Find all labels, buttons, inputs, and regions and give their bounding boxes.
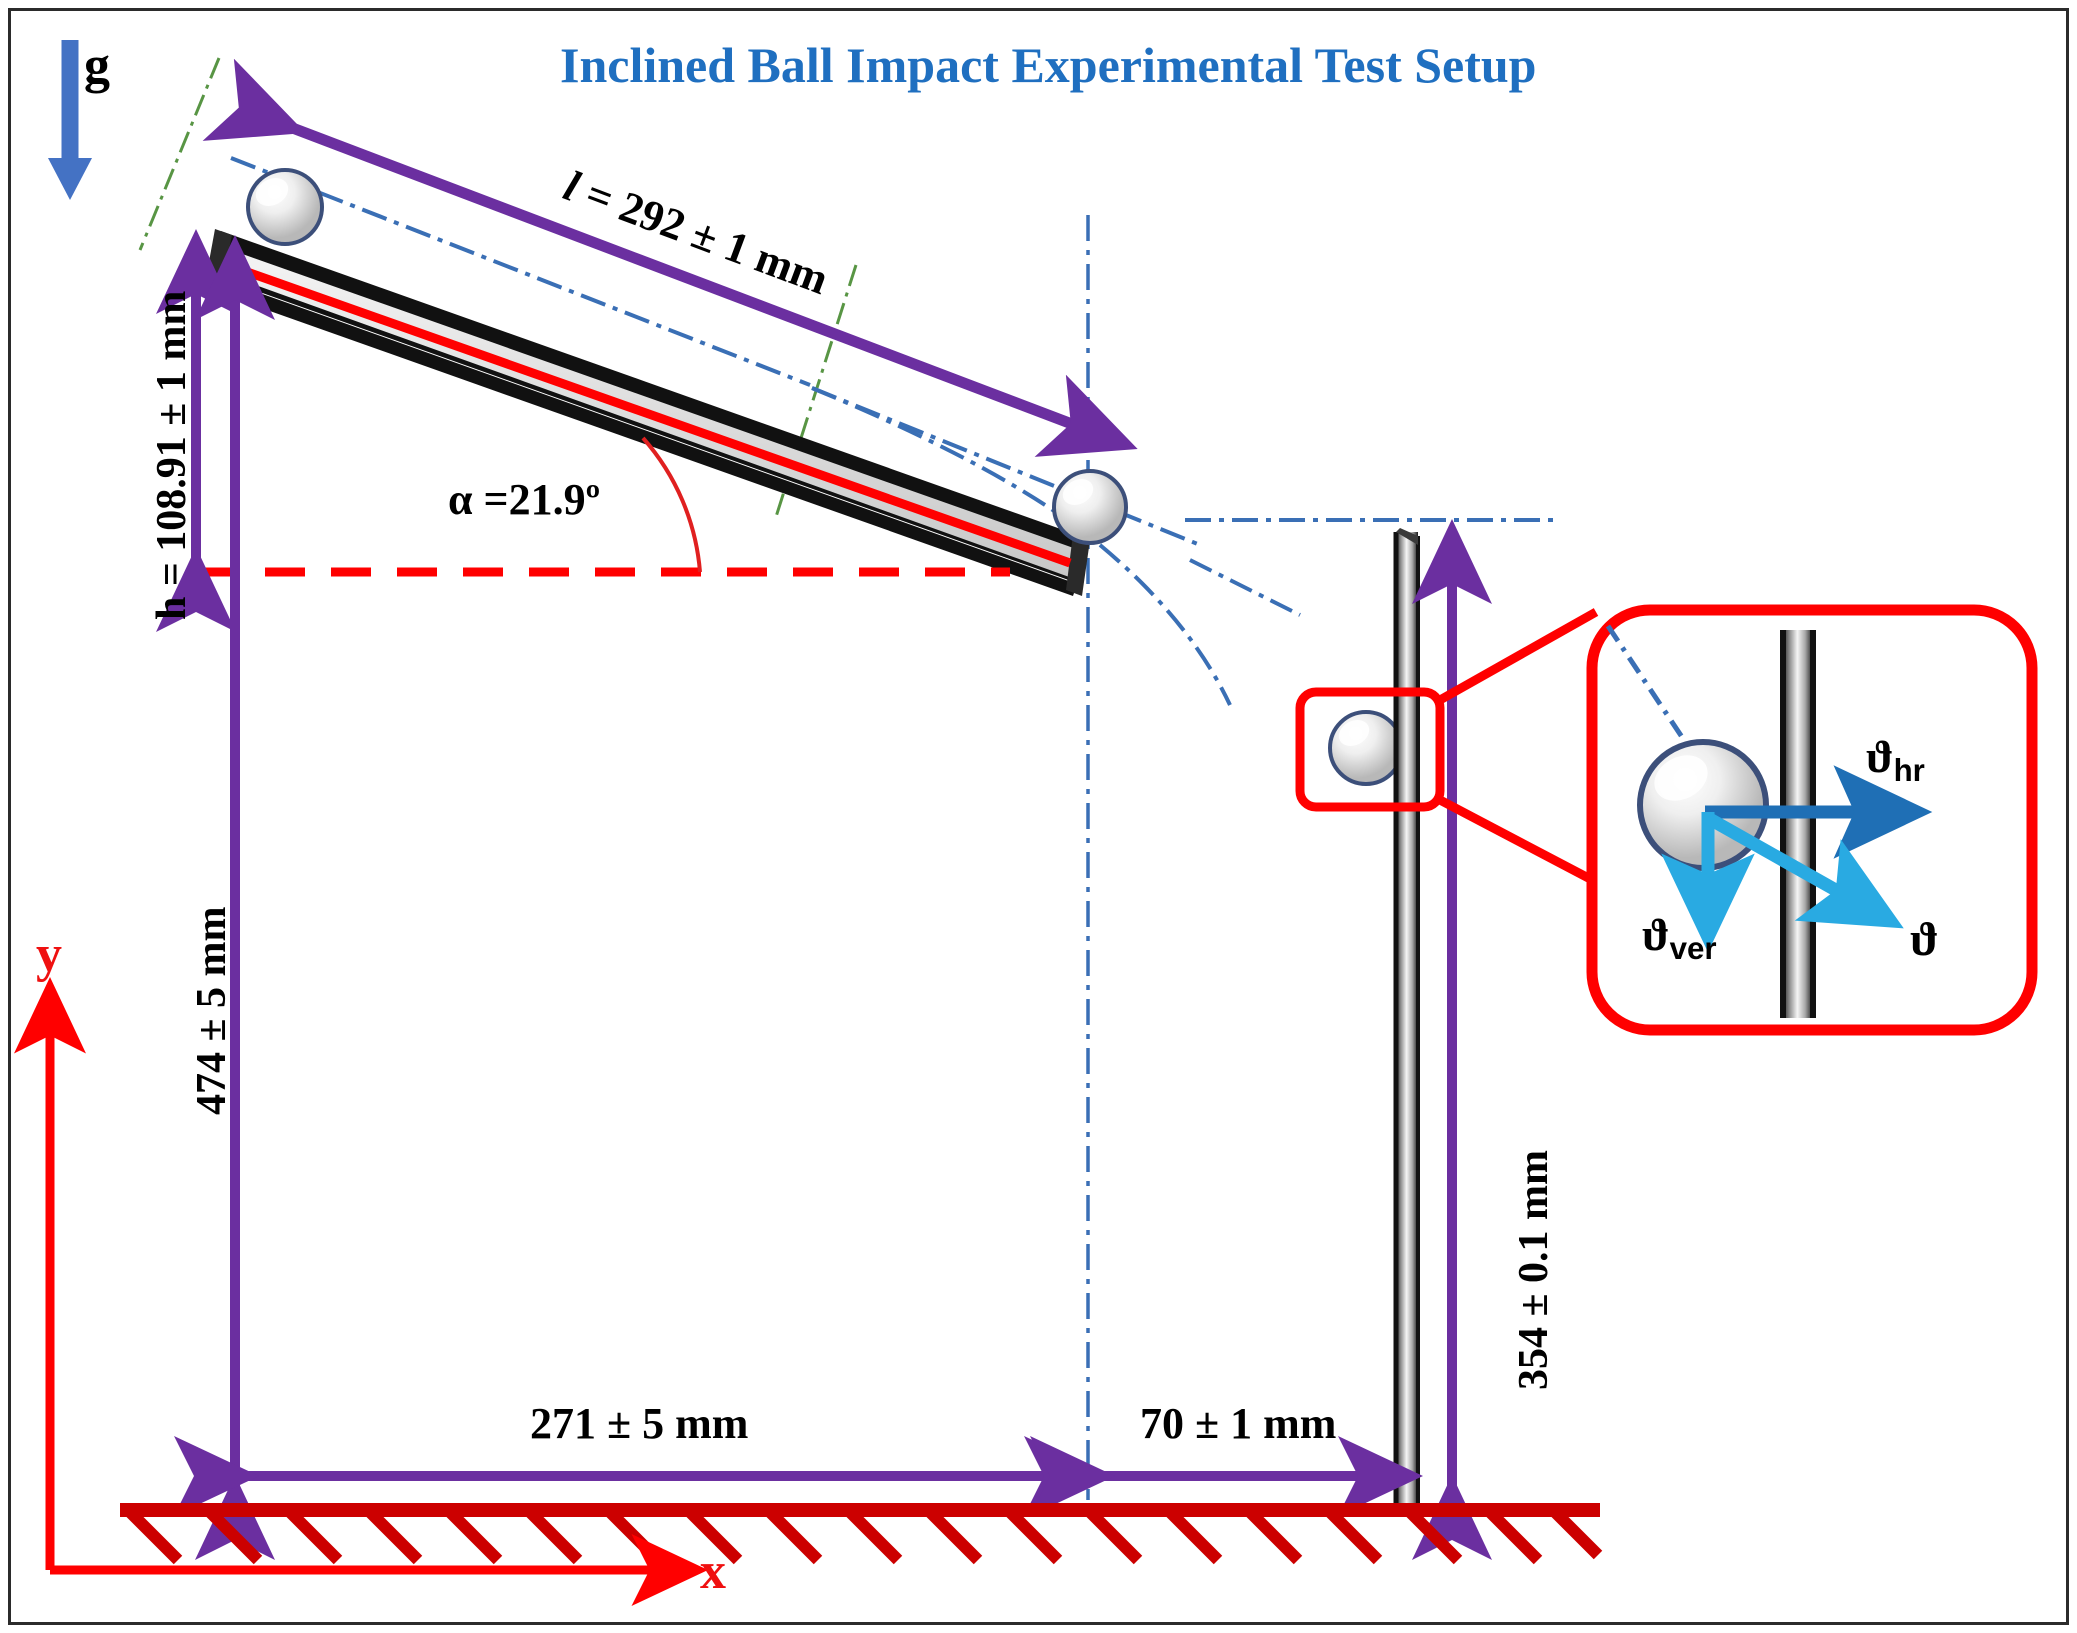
page-title: Inclined Ball Impact Experimental Test S… (560, 36, 1537, 94)
dimension-label-angle: α =21.9º (448, 474, 600, 525)
figure-canvas: Inclined Ball Impact Experimental Test S… (0, 0, 2077, 1633)
inset-leader-lines (1190, 560, 1300, 615)
coordinate-axes (50, 995, 690, 1570)
dimension-label-474: 474 ± 5 mm (188, 906, 236, 1115)
inclined-ramp (206, 229, 1090, 596)
gravity-label: g (84, 36, 110, 95)
theta-ver-symbol: ϑ (1642, 909, 1670, 960)
dimension-ramp-length (282, 124, 1114, 440)
ball-on-ramp-start (248, 170, 322, 244)
dimension-label-h: h = 108.91 ± 1 mm (148, 291, 196, 620)
diagram-vector-layer (0, 0, 2077, 1633)
axis-label-x: x (700, 1542, 726, 1601)
theta-hr-subscript: hr (1894, 753, 1925, 788)
dimension-label-70: 70 ± 1 mm (1140, 1398, 1336, 1449)
ground-hatching (120, 1510, 1600, 1560)
axis-label-y: y (36, 925, 62, 984)
callout-leader-lines (1440, 612, 1596, 882)
trajectory-path (231, 158, 1560, 705)
dimension-label-354: 354 ± 0.1 mm (1510, 1150, 1558, 1390)
inset-label-theta-ver: ϑver (1642, 908, 1717, 967)
theta-hr-symbol: ϑ (1866, 731, 1894, 782)
inset-label-theta: ϑ (1910, 912, 1939, 967)
inset-label-theta-hr: ϑhr (1866, 730, 1925, 789)
impact-plate (1396, 528, 1418, 1517)
theta-ver-subscript: ver (1670, 931, 1717, 966)
dimension-label-271: 271 ± 5 mm (530, 1398, 748, 1449)
ball-at-ramp-exit (1054, 471, 1126, 543)
ball-at-plate (1330, 712, 1402, 784)
